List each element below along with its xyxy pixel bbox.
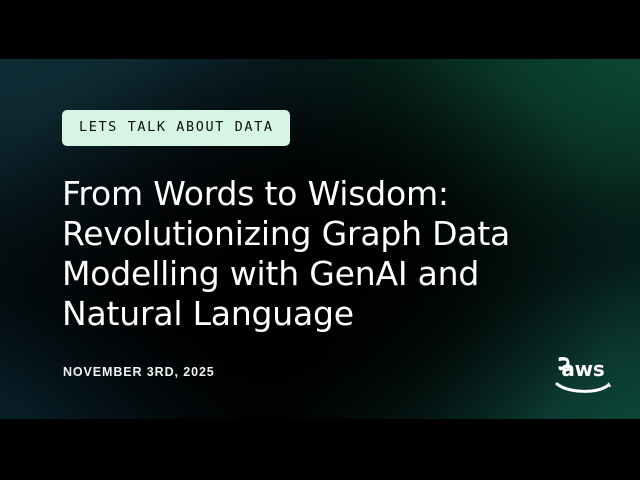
eyebrow-badge-label: LETS TALK ABOUT DATA	[79, 121, 274, 135]
page-title: From Words to Wisdom: Revolutionizing Gr…	[62, 174, 562, 334]
presentation-slide: LETS TALK ABOUT DATA From Words to Wisdo…	[0, 0, 640, 480]
svg-text:aws: aws	[561, 357, 604, 381]
slide-canvas: LETS TALK ABOUT DATA From Words to Wisdo…	[0, 59, 640, 419]
aws-logo: aws	[552, 355, 614, 399]
slide-date: NOVEMBER 3RD, 2025	[63, 366, 215, 379]
letterbox-bar-bottom	[0, 419, 640, 480]
slide-content: LETS TALK ABOUT DATA From Words to Wisdo…	[0, 59, 640, 419]
eyebrow-badge: LETS TALK ABOUT DATA	[62, 110, 290, 146]
letterbox-bar-top	[0, 0, 640, 59]
